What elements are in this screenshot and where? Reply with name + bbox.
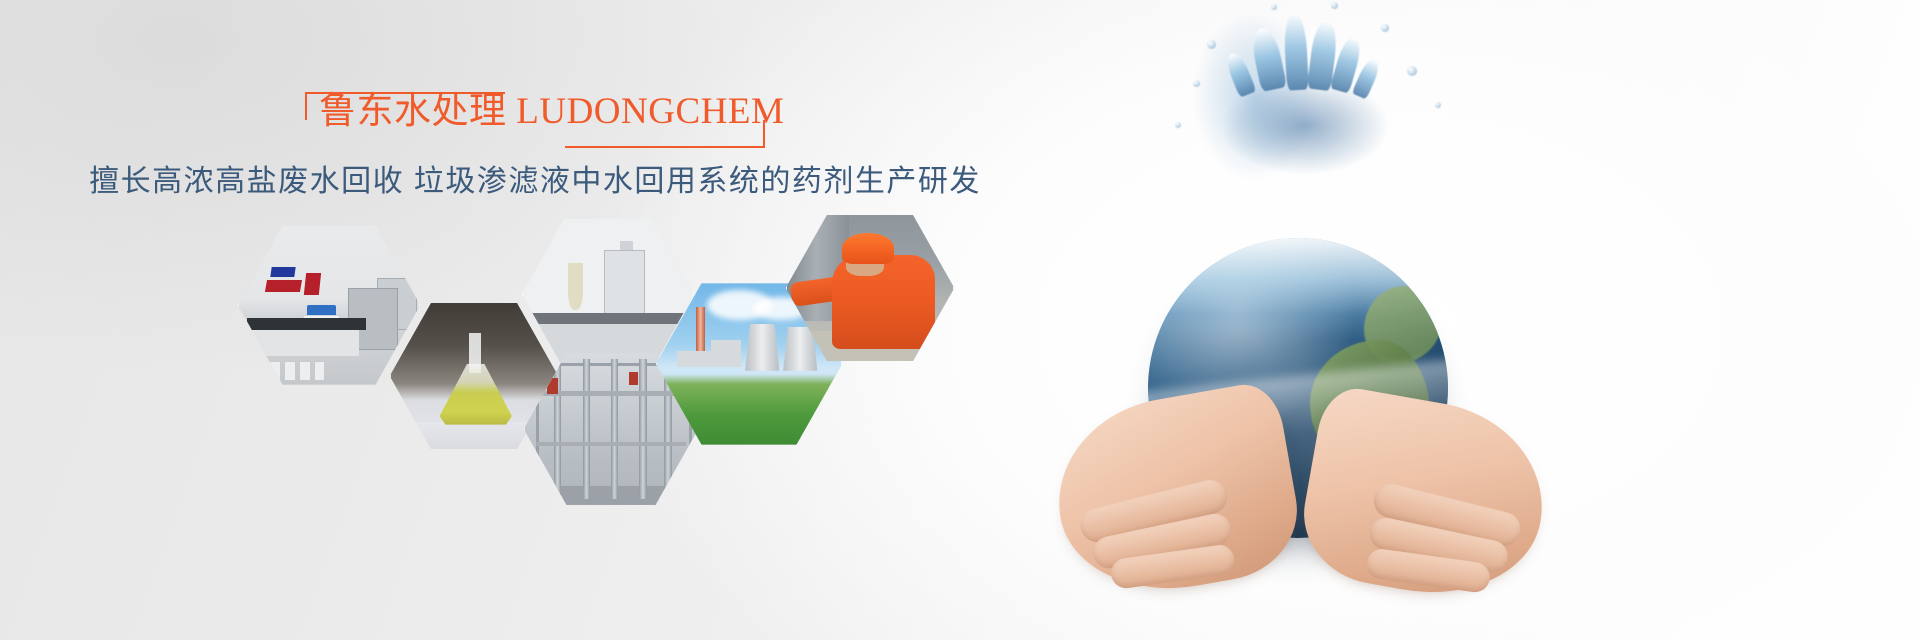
water-splash	[1135, 6, 1465, 266]
corner-bracket-top-left-vertical	[305, 92, 307, 120]
corner-bracket-bottom-right-horizontal	[565, 146, 765, 148]
banner-title-wrap: 鲁东水处理 LUDONGCHEM	[319, 86, 751, 144]
banner-title: 鲁东水处理 LUDONGCHEM	[319, 86, 751, 138]
banner-subtitle: 擅长高浓高盐废水回收 垃圾渗滤液中水回用系统的药剂生产研发	[0, 162, 1070, 202]
hands-holding-water-globe	[1040, 0, 1560, 640]
corner-bracket-bottom-right-vertical	[763, 120, 765, 148]
hero-banner: 鲁东水处理 LUDONGCHEM 擅长高浓高盐废水回收 垃圾渗滤液中水回用系统的…	[0, 0, 1920, 640]
hexagon-photo-lab-room[interactable]	[236, 222, 422, 388]
hand-right	[1293, 383, 1557, 611]
hexagon-photo-cluster	[236, 218, 956, 518]
hand-left	[1043, 379, 1307, 607]
banner-text-block: 鲁东水处理 LUDONGCHEM 擅长高浓高盐废水回收 垃圾渗滤液中水回用系统的…	[0, 86, 1070, 202]
